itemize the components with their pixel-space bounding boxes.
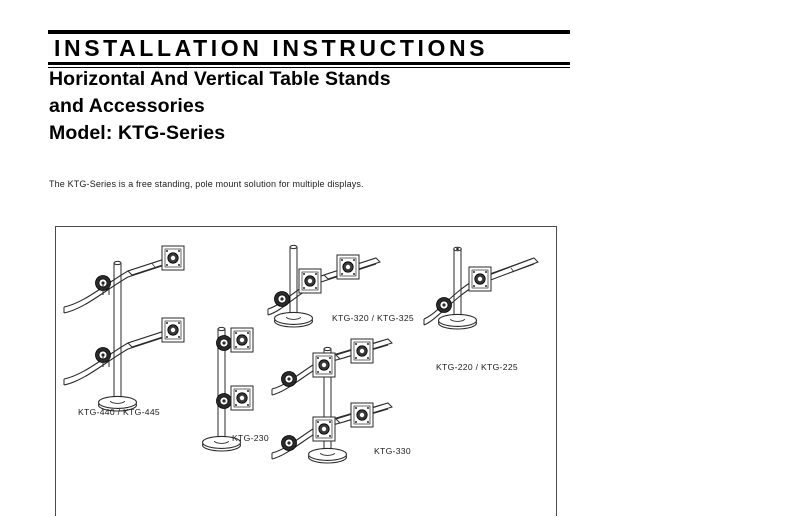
figure-caption-ktg330: KTG-330: [374, 446, 411, 456]
subtitle-line-3-model: Model: KTG-Series: [49, 120, 609, 147]
header-rule-thick: [48, 62, 570, 65]
illustration-panel: KTG-440 / KTG-445 KTG-230 KTG-320 / KTG-…: [55, 226, 557, 516]
document-subtitle-block: Horizontal And Vertical Table Stands and…: [49, 66, 609, 147]
figure-caption-ktg440: KTG-440 / KTG-445: [78, 407, 160, 417]
figure-ktg220: [424, 247, 538, 329]
page-title: INSTALLATION INSTRUCTIONS: [48, 34, 570, 62]
subtitle-line-2: and Accessories: [49, 93, 609, 120]
figure-caption-ktg230: KTG-230: [232, 433, 269, 443]
intro-paragraph: The KTG-Series is a free standing, pole …: [49, 178, 364, 190]
document-header: INSTALLATION INSTRUCTIONS: [48, 30, 570, 68]
figure-ktg330: [272, 339, 392, 463]
product-lineart-diagram: [56, 227, 558, 517]
figure-caption-ktg220: KTG-220 / KTG-225: [436, 362, 518, 372]
subtitle-line-1: Horizontal And Vertical Table Stands: [49, 66, 609, 93]
figure-caption-ktg320: KTG-320 / KTG-325: [332, 313, 414, 323]
figure-ktg440: [64, 246, 184, 411]
